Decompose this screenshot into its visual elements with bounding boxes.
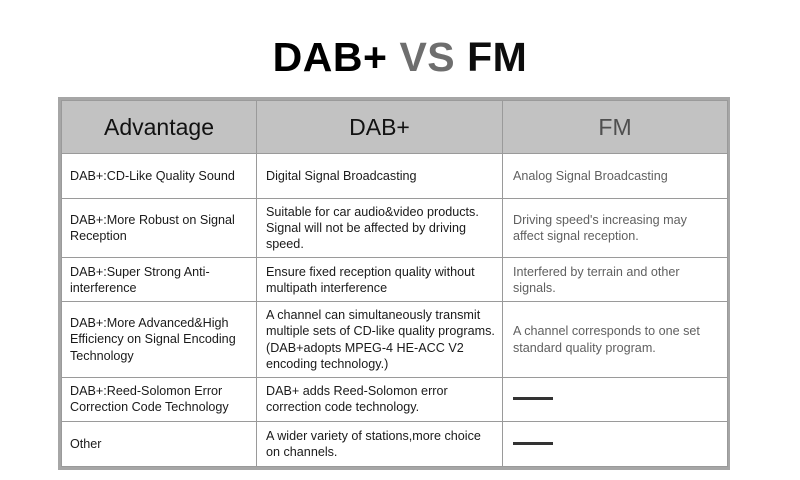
cell-advantage: DAB+:CD-Like Quality Sound bbox=[62, 154, 257, 199]
title-dab-text: DAB+ bbox=[273, 34, 388, 80]
cell-dab: A wider variety of stations,more choice … bbox=[257, 421, 503, 466]
comparison-table: Advantage DAB+ FM DAB+:CD-Like Quality S… bbox=[61, 100, 728, 467]
table-header: Advantage DAB+ FM bbox=[62, 101, 728, 154]
dash-placeholder-icon bbox=[513, 397, 553, 400]
table-row: Other A wider variety of stations,more c… bbox=[62, 421, 728, 466]
title-vs-text: VS bbox=[399, 34, 455, 80]
cell-dab: A channel can simultaneously transmit mu… bbox=[257, 302, 503, 377]
column-header-advantage: Advantage bbox=[62, 101, 257, 154]
cell-fm: Driving speed's increasing may affect si… bbox=[503, 199, 728, 258]
table-row: DAB+:More Robust on Signal Reception Sui… bbox=[62, 199, 728, 258]
table-header-row: Advantage DAB+ FM bbox=[62, 101, 728, 154]
table-row: DAB+:Reed-Solomon Error Correction Code … bbox=[62, 377, 728, 421]
table-row: DAB+:Super Strong Anti-interference Ensu… bbox=[62, 258, 728, 302]
cell-dab: Ensure fixed reception quality without m… bbox=[257, 258, 503, 302]
cell-advantage: DAB+:Super Strong Anti-interference bbox=[62, 258, 257, 302]
cell-advantage: DAB+:More Advanced&High Efficiency on Si… bbox=[62, 302, 257, 377]
comparison-table-container: Advantage DAB+ FM DAB+:CD-Like Quality S… bbox=[58, 97, 730, 470]
page-title: DAB+VSFM bbox=[0, 34, 800, 81]
cell-advantage: Other bbox=[62, 421, 257, 466]
dash-placeholder-icon bbox=[513, 442, 553, 445]
title-fm-text: FM bbox=[467, 34, 527, 80]
cell-dab: Digital Signal Broadcasting bbox=[257, 154, 503, 199]
cell-fm-placeholder bbox=[503, 377, 728, 421]
cell-fm-placeholder bbox=[503, 421, 728, 466]
table-body: DAB+:CD-Like Quality Sound Digital Signa… bbox=[62, 154, 728, 467]
cell-fm: Analog Signal Broadcasting bbox=[503, 154, 728, 199]
cell-fm: Interfered by terrain and other signals. bbox=[503, 258, 728, 302]
table-row: DAB+:CD-Like Quality Sound Digital Signa… bbox=[62, 154, 728, 199]
column-header-dab: DAB+ bbox=[257, 101, 503, 154]
cell-dab: DAB+ adds Reed-Solomon error correction … bbox=[257, 377, 503, 421]
table-row: DAB+:More Advanced&High Efficiency on Si… bbox=[62, 302, 728, 377]
cell-fm: A channel corresponds to one set standar… bbox=[503, 302, 728, 377]
cell-advantage: DAB+:More Robust on Signal Reception bbox=[62, 199, 257, 258]
column-header-fm: FM bbox=[503, 101, 728, 154]
cell-advantage: DAB+:Reed-Solomon Error Correction Code … bbox=[62, 377, 257, 421]
comparison-page: DAB+VSFM Advantage DAB+ FM DAB+:CD-Like … bbox=[0, 0, 800, 480]
cell-dab: Suitable for car audio&video products. S… bbox=[257, 199, 503, 258]
